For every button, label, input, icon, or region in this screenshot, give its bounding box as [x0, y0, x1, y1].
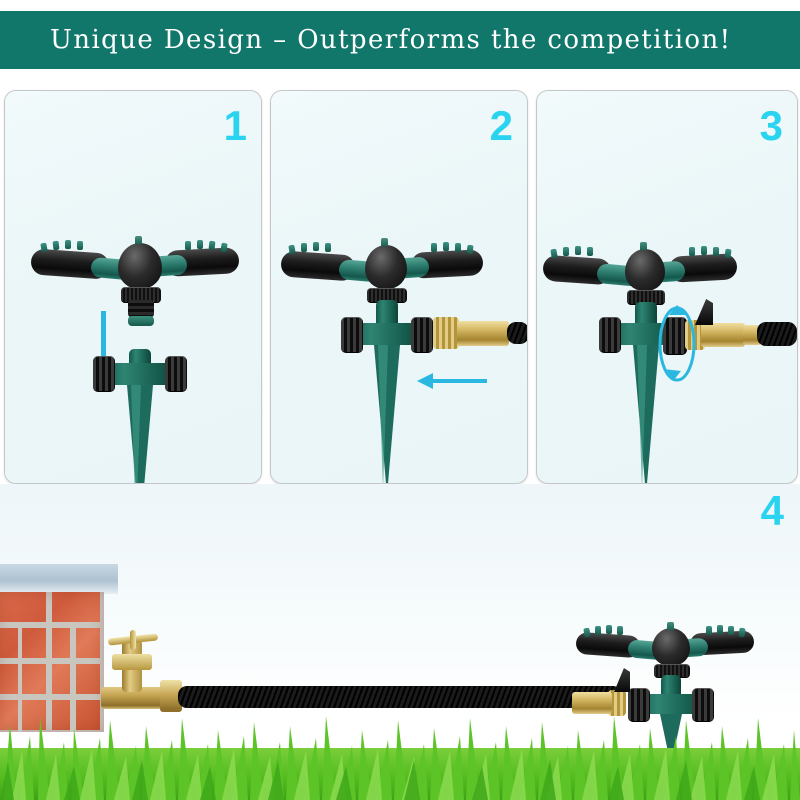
brass-ribbed-collar [433, 317, 459, 349]
hub-pin-icon [135, 236, 142, 244]
step-number-3: 3 [760, 105, 783, 147]
step-number-1: 1 [224, 105, 247, 147]
nozzle-icon [209, 241, 216, 251]
step-panel-1: 1 [4, 90, 262, 484]
brass-barrel [701, 323, 745, 347]
nozzle-icon [466, 245, 473, 255]
rotation-arrow-svg [647, 299, 707, 389]
panel-3-background [537, 91, 797, 483]
spike-highlight [131, 385, 141, 484]
spike-highlight [378, 345, 388, 484]
nozzle-icon [197, 240, 203, 249]
nozzle-icon [443, 242, 449, 251]
step-panel-3: 3 [536, 90, 798, 484]
nozzle-icon [738, 628, 745, 638]
nozzle-icon [706, 626, 712, 635]
nozzle-icon [65, 240, 71, 249]
nozzle-icon [728, 626, 734, 635]
faucet-bonnet [112, 654, 152, 670]
nozzle-icon [563, 247, 569, 256]
step-number-4: 4 [761, 490, 784, 532]
grass-foreground [0, 690, 800, 800]
nozzle-icon [40, 243, 47, 253]
nozzle-icon [550, 249, 557, 259]
rotor-hub-icon [652, 628, 690, 666]
wall-cap-ledge [0, 564, 118, 594]
nozzle-icon [288, 245, 295, 255]
step-number-2: 2 [490, 105, 513, 147]
nozzle-icon [77, 241, 83, 250]
nozzle-icon [717, 625, 723, 634]
header-banner: Unique Design – Outperforms the competit… [0, 11, 800, 69]
nozzle-icon [689, 247, 695, 256]
nozzle-icon [583, 628, 590, 638]
left-nut [341, 317, 363, 353]
grass-blades-svg [0, 690, 800, 800]
arrow-head [417, 373, 433, 389]
product-instruction-image: Unique Design – Outperforms the competit… [0, 0, 800, 800]
right-nut [411, 317, 433, 353]
hub-pin-icon [640, 242, 647, 250]
faucet-cross-handle-vertical [130, 630, 136, 650]
nozzle-icon [431, 243, 437, 252]
nozzle-icon [185, 241, 191, 250]
hub-pin-icon [667, 622, 674, 630]
nozzle-icon [301, 243, 307, 252]
right-nut [165, 356, 187, 392]
rotor-hub-icon [365, 245, 407, 289]
threaded-stem [128, 300, 154, 317]
step-panel-2: 2 [270, 90, 528, 484]
nozzle-icon [713, 247, 719, 256]
step-panel-4-scene: 4 [0, 484, 800, 800]
brass-barrel [457, 321, 509, 346]
nozzle-icon [53, 241, 60, 251]
spike-highlight [637, 345, 647, 484]
nozzle-icon [587, 247, 593, 256]
hub-pin-icon [381, 238, 388, 246]
nozzle-icon [724, 249, 731, 259]
rotor-hub-icon [118, 243, 162, 289]
nozzle-icon [595, 626, 601, 635]
quick-connect-lever-icon [614, 668, 630, 692]
black-hose [757, 322, 797, 346]
arrow-shaft [431, 379, 487, 383]
nozzle-icon [701, 246, 707, 255]
nozzle-icon [575, 246, 581, 255]
page-title: Unique Design – Outperforms the competit… [50, 22, 760, 58]
rotor-hub-icon [625, 249, 665, 291]
green-thread-cap [128, 316, 154, 326]
left-nut [599, 317, 621, 353]
nozzle-icon [617, 626, 623, 635]
hose-end [507, 322, 528, 344]
nozzle-icon [325, 243, 331, 252]
nozzle-icon [455, 243, 461, 252]
nozzle-icon [313, 242, 319, 251]
nozzle-icon [606, 625, 612, 634]
left-nut [93, 356, 115, 392]
